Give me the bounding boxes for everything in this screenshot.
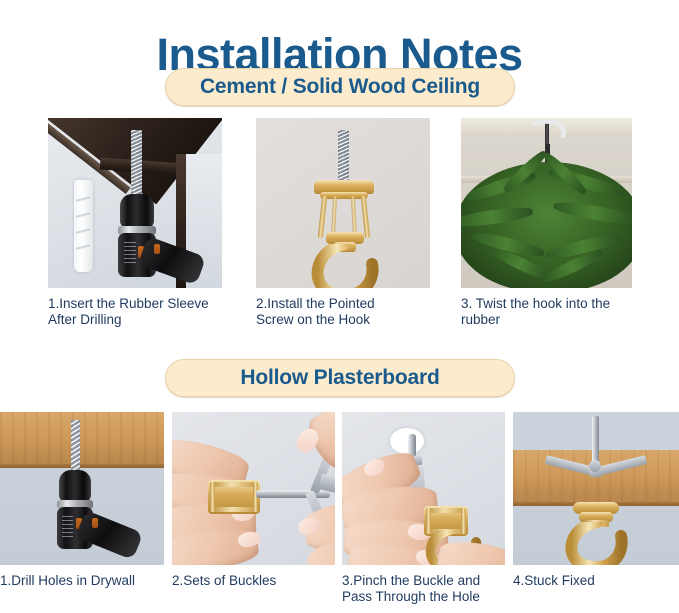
photo-drill-into-ceiling-with-rubber-sleeve — [48, 118, 222, 288]
step-caption: 1.Drill Holes in Drywall — [0, 573, 170, 589]
photo-hanging-fern-plant-on-ceiling-hook — [461, 118, 632, 288]
section-banner-hollow-plasterboard: Hollow Plasterboard — [165, 359, 515, 397]
photo-brass-swag-hook-with-pointed-screw — [256, 118, 430, 288]
section-banner-cement-solid-wood-ceiling: Cement / Solid Wood Ceiling — [165, 68, 515, 106]
photo-hands-holding-toggle-bolt-and-hook — [172, 412, 335, 565]
photo-toggle-bolt-anchored-with-brass-hook — [513, 412, 679, 565]
section-banner-label: Cement / Solid Wood Ceiling — [200, 75, 480, 99]
step-caption: 2.Sets of Buckles — [172, 573, 342, 589]
section-banner-label: Hollow Plasterboard — [240, 366, 439, 390]
step-caption: 2.Install the Pointed Screw on the Hook — [256, 296, 446, 328]
step-caption: 4.Stuck Fixed — [513, 573, 679, 589]
step-caption: 3.Pinch the Buckle and Pass Through the … — [342, 573, 514, 605]
photo-pinching-toggle-wings-at-wall-hole — [342, 412, 505, 565]
step-caption: 3. Twist the hook into the rubber — [461, 296, 661, 328]
step-caption: 1.Insert the Rubber Sleeve After Drillin… — [48, 296, 238, 328]
photo-drilling-hole-in-drywall-board — [0, 412, 164, 565]
